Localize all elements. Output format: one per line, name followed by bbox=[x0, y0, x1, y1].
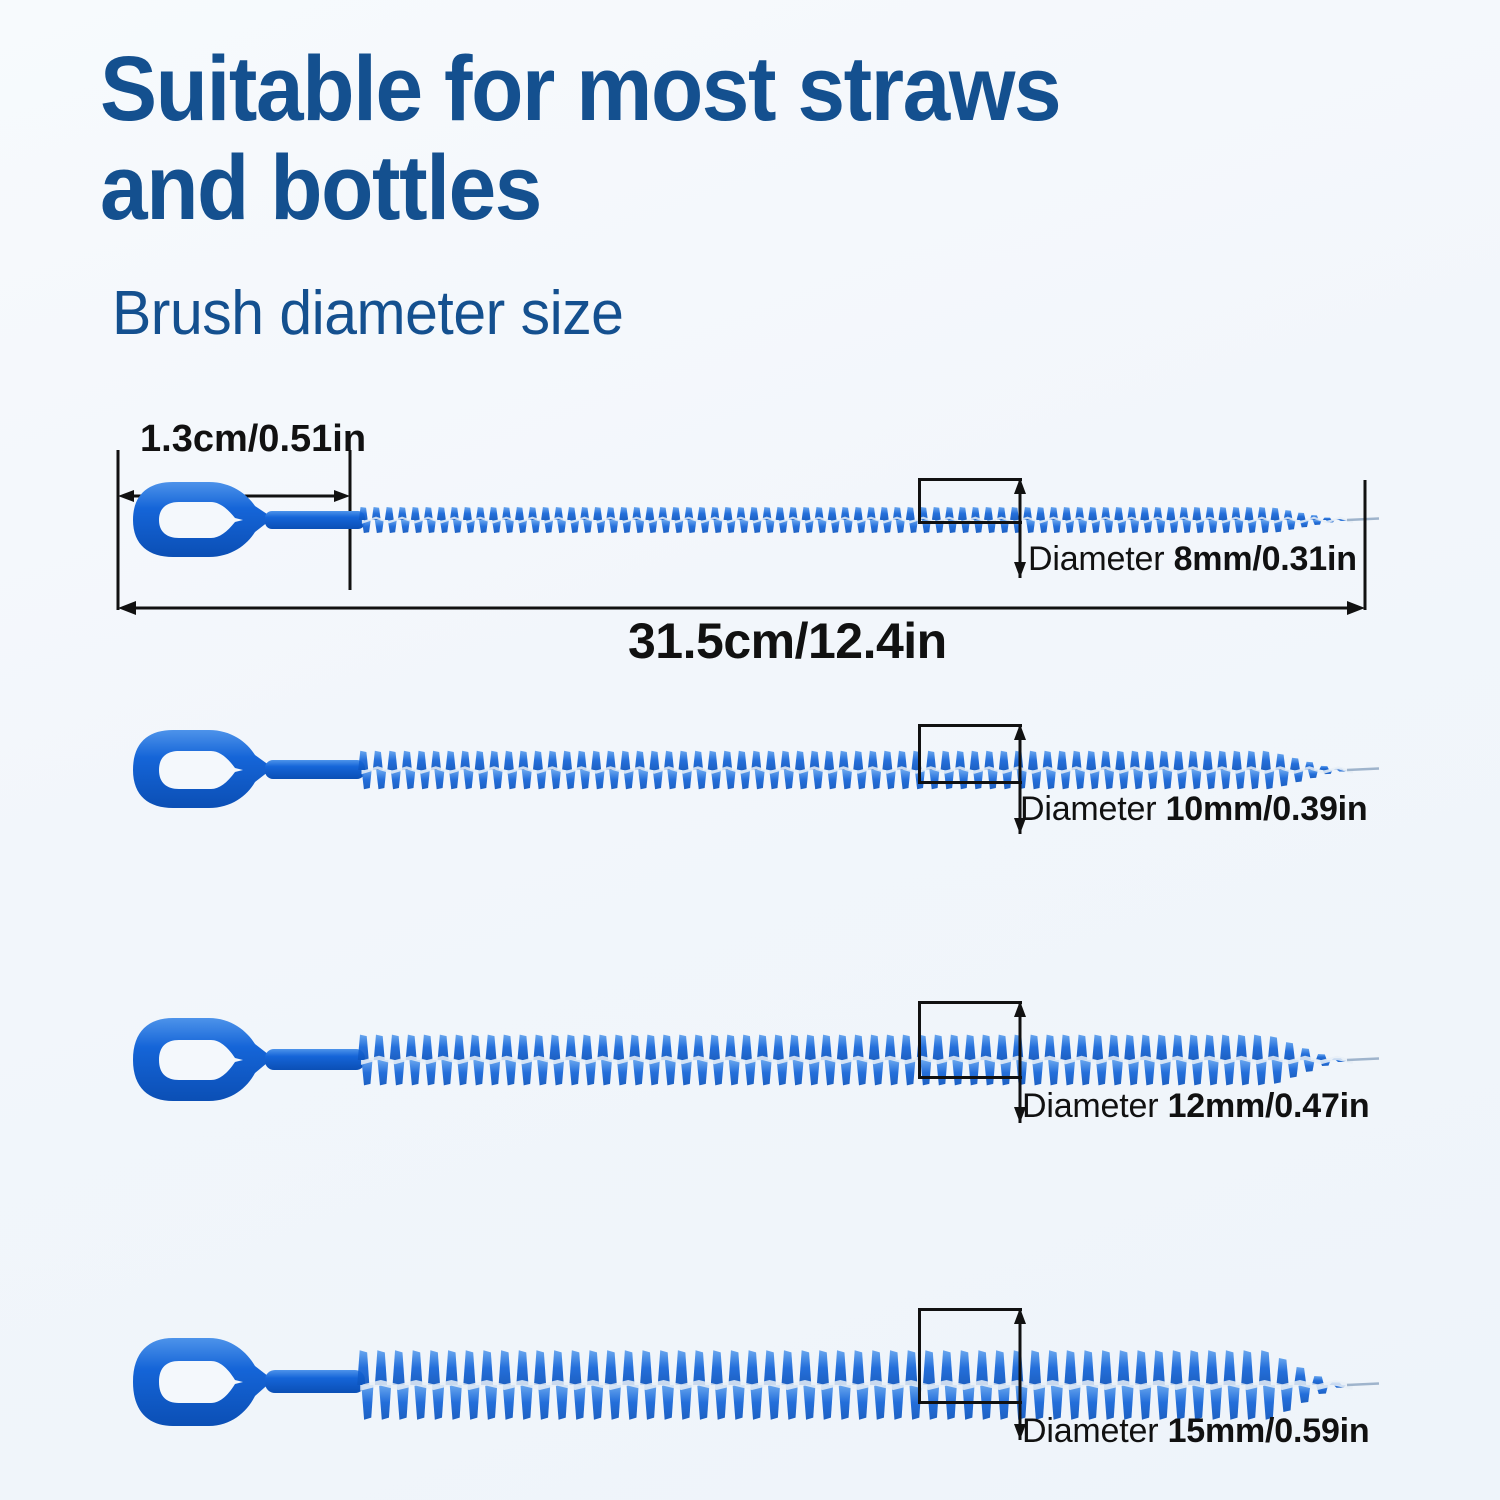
brush-row-15mm: Diameter 15mm/0.59in bbox=[0, 1300, 1500, 1500]
page-title: Suitable for most straws and bottles bbox=[100, 40, 1253, 239]
brush-row-10mm: Diameter 10mm/0.39in bbox=[0, 700, 1500, 880]
total-length-dimension-arrow bbox=[110, 460, 1380, 610]
handle-length-label: 1.3cm/0.51in bbox=[140, 418, 366, 461]
diameter-value-15mm: 15mm/0.59in bbox=[1168, 1412, 1370, 1450]
page-title-line1: Suitable for most straws bbox=[100, 40, 1253, 139]
total-length-label: 31.5cm/12.4in bbox=[628, 612, 947, 670]
diameter-value-12mm: 12mm/0.47in bbox=[1168, 1087, 1370, 1125]
infographic-canvas: Suitable for most straws and bottles Bru… bbox=[0, 0, 1500, 1500]
brush-row-8mm: 1.3cm/0.51in bbox=[0, 440, 1500, 640]
diameter-word-12mm: Diameter bbox=[1022, 1087, 1158, 1125]
diameter-word-15mm: Diameter bbox=[1022, 1412, 1158, 1450]
diameter-bracket-10mm bbox=[918, 724, 1022, 784]
brush-row-12mm: Diameter 12mm/0.47in bbox=[0, 985, 1500, 1185]
diameter-value-10mm: 10mm/0.39in bbox=[1166, 790, 1368, 828]
page-subtitle: Brush diameter size bbox=[112, 278, 623, 349]
diameter-bracket-12mm bbox=[918, 1001, 1022, 1079]
page-title-line2: and bottles bbox=[100, 139, 1253, 238]
diameter-bracket-15mm bbox=[918, 1308, 1022, 1404]
diameter-label-10mm: Diameter 10mm/0.39in bbox=[1020, 790, 1368, 829]
diameter-label-12mm: Diameter 12mm/0.47in bbox=[1022, 1087, 1370, 1126]
diameter-label-15mm: Diameter 15mm/0.59in bbox=[1022, 1412, 1370, 1451]
diameter-word-10mm: Diameter bbox=[1020, 790, 1156, 828]
